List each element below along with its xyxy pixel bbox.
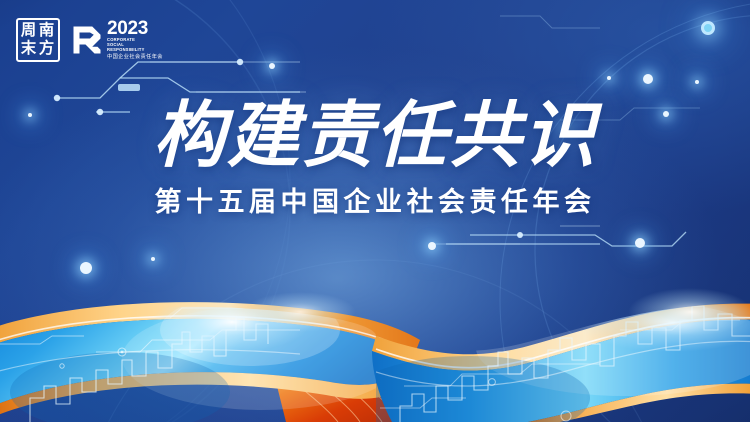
page-subtitle: 第十五届中国企业社会责任年会: [0, 186, 750, 218]
glow-dot-3-icon: [695, 80, 699, 84]
ribbon-underside: [276, 373, 448, 422]
glow-dot-11-icon: [269, 63, 275, 69]
nanfang-zhoumo-seal-icon: 周 南 末 方: [16, 18, 60, 62]
glow-dot-9-icon: [428, 242, 436, 250]
glow-dot-4-icon: [607, 76, 611, 80]
ribbon-left-band: [0, 292, 420, 422]
title-wrap: 构建责任共识: [0, 96, 750, 174]
csr-chinese-name: 中国企业社会责任年会: [107, 54, 163, 60]
glow-dot-8-icon: [635, 238, 645, 248]
ribbon-right-band: [350, 288, 750, 422]
glow-dot-7-icon: [151, 257, 155, 261]
seal-char-2: 南: [39, 23, 54, 38]
glow-dot-6-icon: [80, 262, 92, 274]
glow-dot-1-ring-icon: [701, 21, 715, 35]
seal-char-3: 末: [21, 41, 36, 56]
logo-bar: 周 南 末 方 2023 CORPORATE SOCIAL RESPONSIBI…: [16, 18, 163, 62]
csr-words: CORPORATE SOCIAL RESPONSIBILITY: [107, 38, 163, 52]
csr-line-responsibility: RESPONSIBILITY: [107, 48, 163, 53]
csr-year: 2023: [107, 20, 163, 37]
csr-r-mark-icon: [72, 25, 102, 55]
glow-dot-2-icon: [643, 74, 653, 84]
seal-char-1: 周: [21, 23, 36, 38]
csr-text-block: 2023 CORPORATE SOCIAL RESPONSIBILITY 中国企…: [107, 20, 163, 59]
csr-logo: 2023 CORPORATE SOCIAL RESPONSIBILITY 中国企…: [72, 20, 163, 59]
seal-char-4: 方: [39, 41, 54, 56]
skyline-outline-right: [400, 306, 750, 422]
poster-canvas: 周 南 末 方 2023 CORPORATE SOCIAL RESPONSIBI…: [0, 0, 750, 422]
skyline-outline: [30, 318, 268, 422]
page-title: 构建责任共识: [153, 96, 597, 174]
